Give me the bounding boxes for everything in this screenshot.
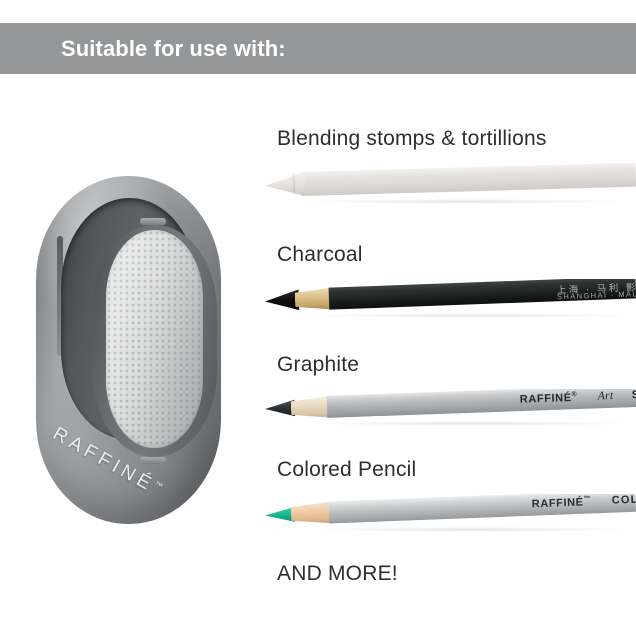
list-item-label: Colored Pencil <box>277 458 636 482</box>
art-colored-pencil: RAFFINÉ™ COLOR <box>265 494 636 538</box>
stomp-shadow <box>305 199 625 204</box>
sanding-pad-sheen <box>106 230 203 448</box>
list-item-label: Blending stomps & tortillions <box>277 127 636 151</box>
colored-pencil-wood <box>291 501 334 525</box>
charcoal-pencil-illustration: 上海 · 马利 影彫 SHANGHAI · MALI 特製 <box>265 279 636 312</box>
sharpener-body: RAFFINÉ™ <box>36 176 221 524</box>
list-item-and-more: AND MORE! <box>277 562 636 586</box>
graphite-pencil-tip <box>265 399 295 418</box>
list-item-charcoal: Charcoal 上海 · 马利 影彫 SHANGHAI · MALI 特製 <box>277 243 636 267</box>
list-item-label: AND MORE! <box>277 562 636 586</box>
sanding-pad-tab-bottom <box>140 457 166 464</box>
art-graphite-pencil: RAFFINÉ® Art SKE <box>265 389 636 433</box>
sharpener-cavity <box>61 198 198 440</box>
art-charcoal-pencil: 上海 · 马利 影彫 SHANGHAI · MALI 特製 <box>265 279 636 323</box>
graphite-barrel-script: Art <box>598 390 614 403</box>
sanding-pad-tab-top <box>140 218 166 225</box>
list-item-colored-pencil: Colored Pencil RAFFINÉ™ COLOR <box>277 458 636 482</box>
registered-mark-icon: ® <box>571 391 577 398</box>
product-image-sharpener: RAFFINÉ™ <box>36 176 221 524</box>
colored-barrel-brand: RAFFINÉ™ <box>532 495 592 510</box>
graphite-pencil-barrel: RAFFINÉ® Art SKE <box>327 389 636 418</box>
colored-barrel-series: COLOR <box>611 494 636 507</box>
stomp-illustration <box>265 163 636 197</box>
charcoal-pencil-shadow <box>315 313 630 318</box>
art-blending-stomp <box>265 163 636 207</box>
list-item-graphite: Graphite RAFFINÉ® Art SKE <box>277 353 636 377</box>
colored-pencil-barrel: RAFFINÉ™ COLOR <box>329 494 636 524</box>
suitable-items-list: Blending stomps & tortillions Charcoal 上… <box>277 0 636 635</box>
charcoal-pencil-wood <box>295 288 334 311</box>
graphite-pencil-shadow <box>313 421 631 426</box>
list-item-label: Graphite <box>277 353 636 377</box>
graphite-barrel-series: SKE <box>632 389 636 401</box>
colored-pencil-shadow <box>315 527 630 532</box>
graphite-pencil-illustration: RAFFINÉ® Art SKE <box>265 389 636 420</box>
list-item-label: Charcoal <box>277 243 636 267</box>
page-title: Suitable for use with: <box>61 36 286 62</box>
charcoal-pencil-tip <box>265 289 299 312</box>
charcoal-pencil-barrel: 上海 · 马利 影彫 SHANGHAI · MALI 特製 <box>329 279 636 310</box>
trademark-mark-icon: ™ <box>583 495 591 502</box>
stomp-shaft <box>301 163 636 196</box>
sanding-pad <box>106 230 203 448</box>
graphite-barrel-brand: RAFFINÉ® <box>520 391 578 406</box>
graphite-barrel-brand-text: RAFFINÉ <box>520 391 572 405</box>
colored-barrel-brand-text: RAFFINÉ <box>532 496 584 510</box>
stomp-tip <box>265 172 305 197</box>
graphite-pencil-wood <box>291 396 332 419</box>
colored-pencil-illustration: RAFFINÉ™ COLOR <box>265 494 636 526</box>
list-item-blending-stomps: Blending stomps & tortillions <box>277 127 636 151</box>
